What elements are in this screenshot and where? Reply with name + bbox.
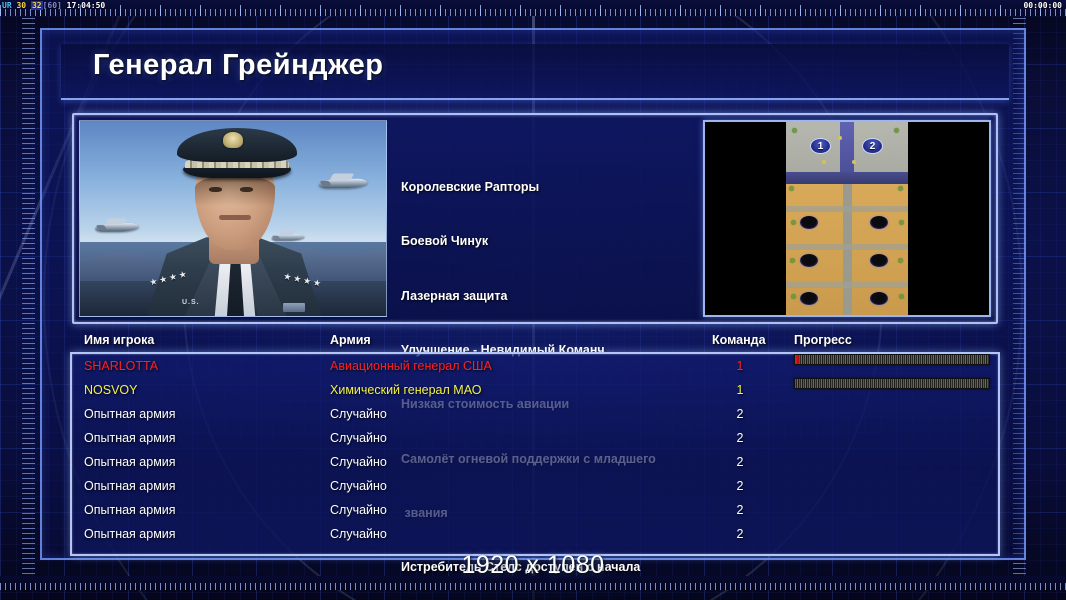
general-portrait: ★★★★ ★★★★ U.S. bbox=[79, 120, 387, 317]
table-row[interactable]: Опытная армияСлучайно2 bbox=[72, 402, 998, 426]
map-road-vertical bbox=[843, 184, 852, 317]
player-progress-cell bbox=[794, 378, 990, 389]
player-team: 2 bbox=[720, 474, 760, 498]
progress-bar-indicator bbox=[795, 355, 799, 364]
map-start-position-2[interactable]: 2 bbox=[862, 138, 883, 154]
column-header-army: Армия bbox=[330, 333, 371, 347]
player-table: SHARLOTTAАвиационный генерал США1NOSVOYХ… bbox=[70, 352, 1000, 556]
map-start-position-1[interactable]: 1 bbox=[810, 138, 831, 154]
player-team: 2 bbox=[720, 450, 760, 474]
resolution-label: 1920 x 1080 bbox=[0, 551, 1066, 580]
page-title: Генерал Грейнджер bbox=[93, 49, 384, 82]
player-name: Опытная армия bbox=[84, 474, 176, 498]
top-ruler-ticks bbox=[0, 9, 1066, 16]
map-preview[interactable]: 1 2 bbox=[703, 120, 991, 317]
map-road-horizontal bbox=[786, 282, 908, 288]
officer-eye-right bbox=[240, 187, 253, 192]
player-team: 2 bbox=[720, 522, 760, 546]
table-row[interactable]: SHARLOTTAАвиационный генерал США1 bbox=[72, 354, 998, 378]
table-row[interactable]: Опытная армияСлучайно2 bbox=[72, 426, 998, 450]
player-team: 2 bbox=[720, 498, 760, 522]
map-vegetation bbox=[894, 128, 899, 133]
player-name: Опытная армия bbox=[84, 426, 176, 450]
description-line: Боевой Чинук bbox=[401, 232, 703, 250]
player-army: Случайно bbox=[330, 522, 387, 546]
player-team: 1 bbox=[720, 354, 760, 378]
map-structure bbox=[800, 292, 818, 305]
officer-mouth bbox=[219, 215, 251, 220]
debug-timecode-left: UR 30 32[60] 17:04:50 bbox=[2, 1, 105, 10]
uniform-us-label: U.S. bbox=[182, 299, 200, 306]
player-name: Опытная армия bbox=[84, 498, 176, 522]
top-ruler-bar bbox=[0, 0, 1066, 16]
table-row[interactable]: Опытная армияСлучайно2 bbox=[72, 522, 998, 546]
player-name: NOSVOY bbox=[84, 378, 138, 402]
map-road-horizontal bbox=[786, 206, 908, 212]
player-army: Случайно bbox=[330, 426, 387, 450]
map-prop bbox=[838, 136, 842, 140]
player-table-body: SHARLOTTAАвиационный генерал США1NOSVOYХ… bbox=[72, 354, 998, 546]
table-row[interactable]: Опытная армияСлучайно2 bbox=[72, 498, 998, 522]
player-team: 1 bbox=[720, 378, 760, 402]
map-structure bbox=[800, 216, 818, 229]
player-army: Случайно bbox=[330, 498, 387, 522]
map-vegetation bbox=[899, 294, 904, 299]
player-name: Опытная армия bbox=[84, 402, 176, 426]
player-army: Случайно bbox=[330, 474, 387, 498]
column-header-name: Имя игрока bbox=[84, 333, 154, 347]
map-structure bbox=[870, 292, 888, 305]
officer-eye-left bbox=[209, 187, 222, 192]
description-line: Лазерная защита bbox=[401, 287, 703, 305]
map-vegetation bbox=[792, 128, 797, 133]
timecode-num1: 30 bbox=[16, 1, 26, 10]
player-name: Опытная армия bbox=[84, 522, 176, 546]
map-prop bbox=[822, 160, 826, 164]
table-row[interactable]: Опытная армияСлучайно2 bbox=[72, 450, 998, 474]
general-info-panel: ★★★★ ★★★★ U.S. Королевские Рапторы Боево… bbox=[72, 113, 998, 324]
table-row[interactable]: Опытная армияСлучайно2 bbox=[72, 474, 998, 498]
top-ruler-ticks-major bbox=[0, 5, 1066, 16]
column-header-team: Команда bbox=[712, 333, 766, 347]
player-army: Случайно bbox=[330, 402, 387, 426]
player-army: Химический генерал МАО bbox=[330, 378, 481, 402]
column-header-progress: Прогресс bbox=[794, 333, 852, 347]
officer-cap-badge-icon bbox=[223, 132, 243, 148]
officer-face-shadow bbox=[195, 176, 275, 206]
map-road-horizontal bbox=[786, 244, 908, 250]
officer-ribbon-icon bbox=[283, 303, 305, 312]
player-name: SHARLOTTA bbox=[84, 354, 158, 378]
debug-timecode-right: 00:00:00 bbox=[1023, 1, 1062, 10]
map-structure bbox=[870, 216, 888, 229]
table-row[interactable]: NOSVOYХимический генерал МАО1 bbox=[72, 378, 998, 402]
player-team: 2 bbox=[720, 426, 760, 450]
player-table-header: Имя игрока Армия Команда Прогресс bbox=[72, 333, 998, 353]
progress-bar bbox=[794, 378, 990, 389]
map-vegetation bbox=[898, 258, 903, 263]
main-frame-panel: Генерал Грейнджер bbox=[40, 28, 1026, 560]
map-wall bbox=[786, 172, 908, 184]
map-vegetation bbox=[789, 186, 794, 191]
map-structure bbox=[800, 254, 818, 267]
map-vegetation bbox=[898, 186, 903, 191]
player-army: Случайно bbox=[330, 450, 387, 474]
left-ruler-bar bbox=[22, 18, 35, 574]
map-river bbox=[840, 122, 854, 178]
map-vegetation bbox=[790, 258, 795, 263]
timecode-bracket: [60] bbox=[43, 1, 62, 10]
map-vegetation bbox=[791, 220, 796, 225]
description-line: Королевские Рапторы bbox=[401, 178, 703, 196]
title-band: Генерал Грейнджер bbox=[61, 44, 1009, 100]
player-progress-cell bbox=[794, 354, 990, 365]
left-ruler-ticks bbox=[22, 18, 35, 574]
timecode-prefix: UR bbox=[2, 1, 12, 10]
general-description-list: Королевские Рапторы Боевой Чинук Лазерна… bbox=[387, 120, 703, 317]
player-army: Авиационный генерал США bbox=[330, 354, 492, 378]
map-vegetation bbox=[899, 220, 904, 225]
progress-bar bbox=[794, 354, 990, 365]
game-lobby-screen: UR 30 32[60] 17:04:50 00:00:00 Генерал Г… bbox=[0, 0, 1066, 600]
timecode-num2: 32 bbox=[31, 1, 43, 10]
player-name: Опытная армия bbox=[84, 450, 176, 474]
timecode-clock: 17:04:50 bbox=[67, 1, 106, 10]
map-structure bbox=[870, 254, 888, 267]
map-prop bbox=[852, 160, 856, 164]
map-preview-image: 1 2 bbox=[786, 122, 908, 317]
officer-figure: ★★★★ ★★★★ U.S. bbox=[135, 130, 333, 316]
map-vegetation bbox=[791, 294, 796, 299]
player-team: 2 bbox=[720, 402, 760, 426]
